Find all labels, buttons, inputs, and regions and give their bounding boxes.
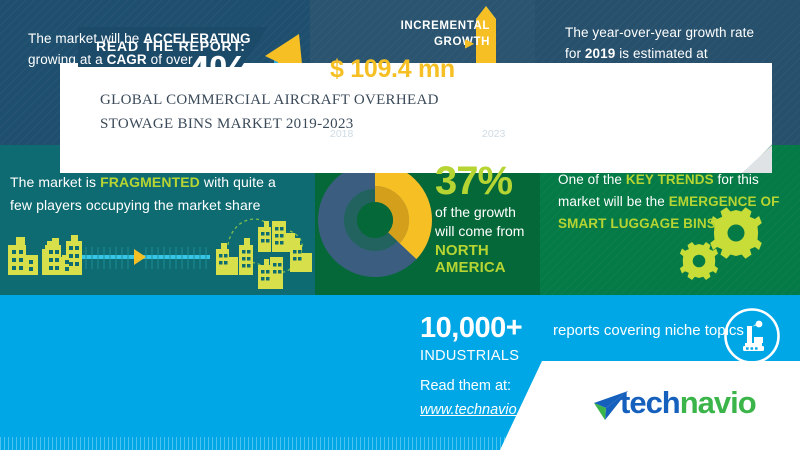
frag-line1-pre: The market is [10,174,100,190]
factory-industrial-icon [723,307,781,365]
yoy-line2-post: is estimated at [615,46,707,61]
trend-line2-bold: EMERGENCE OF [669,194,780,209]
website-url-link[interactable]: www.technavio.com [420,402,548,418]
yoy-line2-pre: for [565,46,585,61]
yoy-line2-bold: 2019 [585,46,615,61]
key-trends-description: One of the KEY TRENDS for this market wi… [558,169,793,235]
donut-caption-line2: will come from [435,222,524,241]
cagr-line2-bold: CAGR [107,52,147,67]
trend-line3-bold: SMART LUGGAGE BINS [558,216,716,231]
incremental-growth-value: $ 109.4 mn [330,55,455,84]
north-america-percent: 37% [435,161,512,201]
yoy-value: 3.89% [628,72,745,116]
incremental-title-line1: INCREMENTAL [330,18,490,34]
cagr-value: 4% [186,50,248,94]
sector-label: INDUSTRIALS [420,348,519,364]
yoy-line1: The year-over-year growth rate [565,25,754,40]
infographic-canvas: The market will be ACCELERATING growing … [0,0,800,450]
frag-line1-bold: FRAGMENTED [100,174,200,190]
trend-line2-pre: market will be the [558,194,669,209]
fragmented-description: The market is FRAGMENTED with quite a fe… [10,171,310,217]
donut-region-label: NORTH AMERICA [435,242,540,276]
logo-text-tech: tech [620,385,680,420]
logo-text-navio: navio [680,385,756,420]
report-count-value: 10,000+ [420,312,522,345]
read-them-at-label: Read them at: [420,378,511,394]
axis-label-end-year: 2023 [482,128,505,140]
yoy-description: The year-over-year growth rate for 2019 … [565,22,780,64]
report-title-text: GLOBAL COMMERCIAL AIRCRAFT OVERHEAD STOW… [100,88,480,136]
report-count-caption: reports covering niche topics [553,322,744,339]
trend-line1-post: for this [714,172,759,187]
donut-caption-line1: of the growth [435,203,516,222]
frag-line1-post: with quite a [200,174,276,190]
play-triangle-icon: ▶ [465,36,474,50]
trend-line1-pre: One of the [558,172,626,187]
frag-line2: few players occupying the market share [10,197,260,213]
cagr-line2-pre: growing at a [28,52,107,67]
technavio-logo-text: technavio [620,385,756,421]
trend-line1-bold: KEY TRENDS [626,172,714,187]
